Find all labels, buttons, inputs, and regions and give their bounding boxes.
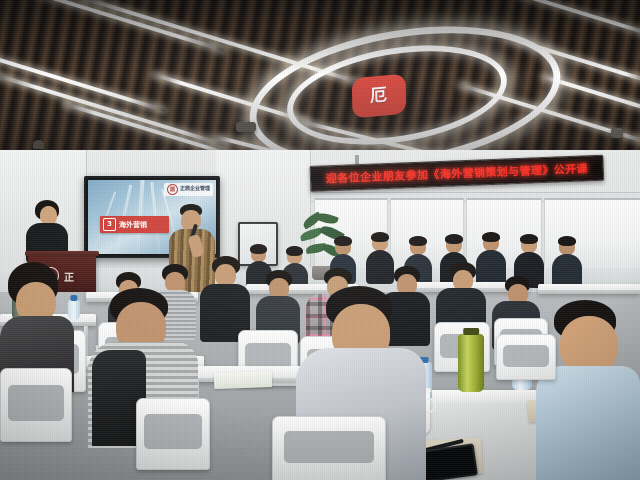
led-banner-text: 迎各位企业朋友参加《海外营销策划与管理》公开课 (326, 160, 589, 186)
slide-logo-name: 正鼎企业管理 (180, 187, 210, 193)
foreground-attendee-right (536, 300, 640, 480)
seminar-chair-foreground (272, 416, 386, 480)
green-sports-bottle (458, 334, 484, 392)
open-book (214, 371, 273, 389)
slide-title-badge: 3 海外营销 (100, 216, 169, 233)
light-blue-shirt (536, 366, 640, 480)
ring-light-outer (239, 6, 570, 168)
slide-badge-mark: 3 (103, 218, 116, 231)
seminar-photo: 厄 迎各位企业朋友参加《海外营销策划与管理》公开课 3 海外营销 (0, 0, 640, 480)
seminar-table (538, 284, 640, 294)
ceiling-assembly: 厄 (0, 0, 640, 168)
seminar-chair (136, 398, 210, 470)
ceiling-brand-logo: 厄 (352, 74, 406, 119)
seminar-chair (496, 334, 556, 380)
ceiling-projector-icon (236, 122, 256, 132)
seminar-chair (0, 368, 72, 442)
slide-logo-seal-icon: 圆 (167, 184, 178, 195)
audience-member (552, 238, 582, 290)
audience-member (200, 256, 250, 342)
ceiling-speaker-icon (33, 140, 44, 149)
slide-badge-label: 海外营销 (119, 220, 147, 230)
ring-light-inner (280, 31, 514, 159)
ceiling-logo-glyph: 厄 (370, 87, 388, 106)
slide-corner-logo: 圆 正鼎企业管理 (164, 183, 213, 196)
ceiling-sensor-icon (611, 128, 623, 138)
